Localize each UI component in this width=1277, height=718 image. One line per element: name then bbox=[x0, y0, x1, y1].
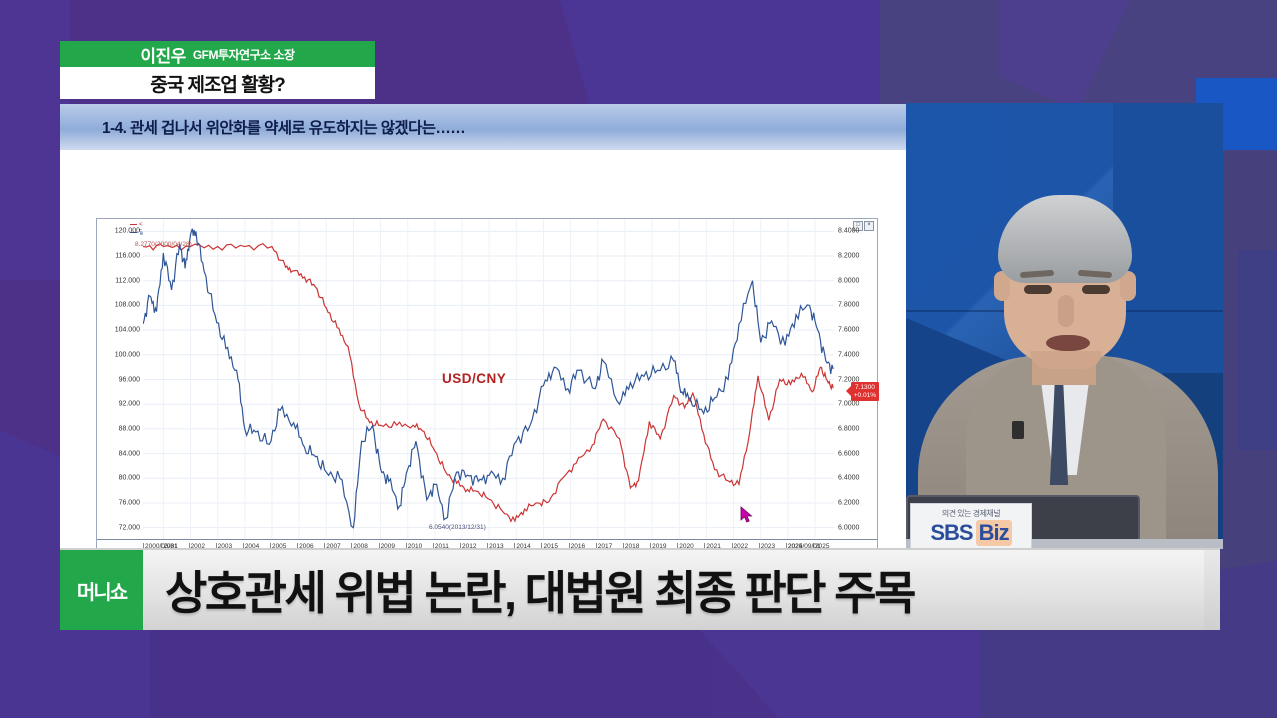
y-tick-left: 84.000 bbox=[119, 450, 140, 457]
segment-topic: 중국 제조업 활황? bbox=[60, 67, 375, 99]
y-tick-right: 8.2000 bbox=[838, 253, 859, 260]
y-tick-left: 108.000 bbox=[115, 302, 140, 309]
y-tick-right: 7.8000 bbox=[838, 302, 859, 309]
y-tick-left: 112.000 bbox=[115, 277, 140, 284]
y-tick-left: 72.000 bbox=[119, 524, 140, 531]
y-tick-right: 6.8000 bbox=[838, 425, 859, 432]
presenter-eye bbox=[1082, 285, 1110, 294]
channel-tagline: 의견 있는 경제채널 bbox=[911, 504, 1031, 519]
lapel-microphone bbox=[1012, 421, 1024, 439]
y-tick-left: 80.000 bbox=[119, 475, 140, 482]
speaker-name: 이진우 bbox=[140, 42, 185, 67]
channel-name: SBS Biz bbox=[911, 520, 1031, 546]
y-tick-right: 6.4000 bbox=[838, 475, 859, 482]
chart-y-axis-left: 120.000116.000112.000108.000104.000100.0… bbox=[97, 219, 143, 540]
news-ticker-banner: 머니쇼 상호관세 위법 논란, 대법원 최종 판단 주목 bbox=[60, 548, 1220, 630]
speaker-identity-bar: 이진우 GFM투자연구소 소장 bbox=[60, 41, 375, 67]
y-tick-left: 120.000 bbox=[115, 228, 140, 235]
y-tick-left: 116.000 bbox=[115, 253, 140, 260]
bg-facet bbox=[1238, 250, 1277, 450]
y-tick-right: 7.4000 bbox=[838, 351, 859, 358]
price-badge-value: 7.1300 bbox=[854, 384, 876, 392]
presenter-chin bbox=[1030, 351, 1102, 369]
banner-edge bbox=[1204, 550, 1220, 630]
current-price-badge: 7.1300 +0.01% bbox=[851, 382, 879, 401]
y-tick-right: 6.0000 bbox=[838, 524, 859, 531]
y-tick-right: 6.2000 bbox=[838, 499, 859, 506]
chart-y-axis-right: 8.40008.20008.00007.80007.60007.40007.20… bbox=[834, 219, 877, 540]
chart-widget[interactable]: □ × <위안화 BID>-USDCNY-BID>2025/09/01 종:7.… bbox=[96, 218, 878, 566]
slide-title-text: 1-4. 관세 겁나서 위안화를 약세로 유도하지는 않겠다는…… bbox=[102, 116, 465, 138]
news-headline: 상호관세 위법 논란, 대법원 최종 판단 주목 bbox=[143, 550, 1204, 630]
program-badge: 머니쇼 bbox=[60, 550, 143, 630]
presentation-slide: 1-4. 관세 겁나서 위안화를 약세로 유도하지는 않겠다는…… □ × <위… bbox=[60, 104, 910, 548]
y-tick-left: 96.000 bbox=[119, 376, 140, 383]
y-tick-right: 6.6000 bbox=[838, 450, 859, 457]
channel-logo: 의견 있는 경제채널 SBS Biz bbox=[910, 503, 1032, 549]
speaker-nameplate: 이진우 GFM투자연구소 소장 중국 제조업 활황? bbox=[60, 41, 375, 99]
presenter-nose bbox=[1058, 295, 1074, 327]
y-tick-left: 88.000 bbox=[119, 425, 140, 432]
annotation-start-value: 8.2770(2000/04/28) bbox=[135, 241, 192, 248]
y-tick-left: 92.000 bbox=[119, 401, 140, 408]
bg-facet bbox=[150, 630, 710, 718]
price-badge-change: +0.01% bbox=[854, 392, 876, 400]
channel-name-biz: Biz bbox=[976, 520, 1012, 546]
y-tick-left: 104.000 bbox=[115, 327, 140, 334]
speaker-title: GFM투자연구소 소장 bbox=[193, 46, 295, 63]
channel-name-sbs: SBS bbox=[930, 520, 972, 546]
y-tick-right: 8.0000 bbox=[838, 277, 859, 284]
mouse-cursor bbox=[740, 506, 754, 524]
slide-body: □ × <위안화 BID>-USDCNY-BID>2025/09/01 종:7.… bbox=[60, 150, 910, 548]
annotation-low-value: 6.0540(2013/12/31) bbox=[429, 524, 486, 531]
presenter-video-feed: 의견 있는 경제채널 SBS Biz bbox=[906, 103, 1223, 549]
y-tick-left: 76.000 bbox=[119, 499, 140, 506]
y-tick-left: 100.000 bbox=[115, 351, 140, 358]
slide-title-bar: 1-4. 관세 겁나서 위안화를 약세로 유도하지는 않겠다는…… bbox=[60, 104, 910, 150]
series-label-usdcny: USD/CNY bbox=[442, 371, 506, 386]
y-tick-right: 7.6000 bbox=[838, 327, 859, 334]
presenter-eye bbox=[1024, 285, 1052, 294]
presenter-mouth bbox=[1046, 335, 1090, 351]
y-tick-right: 7.0000 bbox=[838, 401, 859, 408]
y-tick-right: 8.4000 bbox=[838, 228, 859, 235]
